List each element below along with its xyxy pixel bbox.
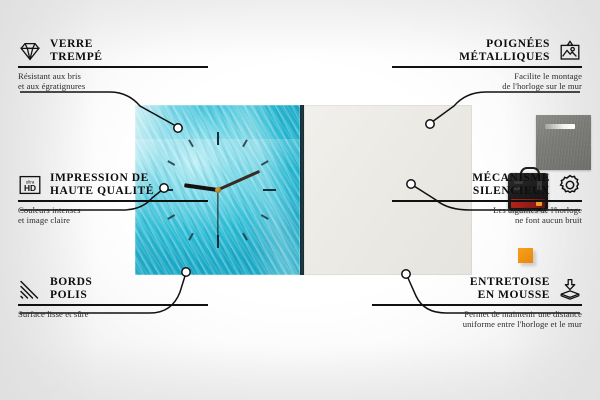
callout-header: MÉCANISME SILENCIEUX — [392, 172, 582, 197]
callout-description: Surface lisse et sûre — [18, 309, 208, 320]
clock-second-hand — [217, 190, 218, 240]
polished-edges-icon — [18, 277, 42, 301]
callout-title: ENTRETOISE EN MOUSSE — [470, 276, 550, 301]
callout-header: VERRE TREMPÉ — [18, 38, 208, 63]
callout-description: Couleurs intenses et image claire — [18, 205, 208, 226]
callout-bords-polis[interactable]: BORDS POLIS Surface lisse et sûre — [18, 276, 208, 319]
ultra-hd-icon: ultra HD — [18, 173, 42, 197]
hanger-slot — [545, 124, 575, 129]
infographic-canvas: VERRE TREMPÉ Résistant aux bris et aux é… — [0, 0, 600, 400]
clock-tick — [217, 132, 219, 190]
callout-rule — [392, 200, 582, 201]
callout-mecanisme-silencieux[interactable]: MÉCANISME SILENCIEUX Les aiguilles de l'… — [392, 172, 582, 226]
metal-hanger-plate — [536, 115, 591, 170]
callout-rule — [18, 200, 208, 201]
callout-rule — [372, 304, 582, 305]
foam-spacer — [518, 248, 533, 263]
callout-header: ENTRETOISE EN MOUSSE — [372, 276, 582, 301]
callout-title: VERRE TREMPÉ — [50, 38, 103, 63]
callout-verre-trempe[interactable]: VERRE TREMPÉ Résistant aux bris et aux é… — [18, 38, 208, 92]
clock-tick — [218, 189, 276, 191]
gear-icon — [558, 173, 582, 197]
callout-title: POIGNÉES MÉTALLIQUES — [459, 38, 550, 63]
svg-text:HD: HD — [24, 183, 36, 193]
callout-title: IMPRESSION DE HAUTE QUALITÉ — [50, 172, 154, 197]
callout-title: BORDS POLIS — [50, 276, 92, 301]
callout-rule — [18, 66, 208, 67]
clock-center-hub — [215, 187, 221, 193]
callout-header: ultra HD IMPRESSION DE HAUTE QUALITÉ — [18, 172, 208, 197]
callout-rule — [18, 304, 208, 305]
callout-poignees-metalliques[interactable]: POIGNÉES MÉTALLIQUES Facilite le montage… — [392, 38, 582, 92]
callout-impression-haute-qualite[interactable]: ultra HD IMPRESSION DE HAUTE QUALITÉ Cou… — [18, 172, 208, 226]
callout-rule — [392, 66, 582, 67]
callout-description: Les aiguilles de l'horloge ne font aucun… — [392, 205, 582, 226]
callout-entretoise-en-mousse[interactable]: ENTRETOISE EN MOUSSE Permet de maintenir… — [372, 276, 582, 330]
callout-header: BORDS POLIS — [18, 276, 208, 301]
wall-mount-frame-icon — [558, 39, 582, 63]
callout-description: Facilite le montage de l'horloge sur le … — [392, 71, 582, 92]
callout-title: MÉCANISME SILENCIEUX — [472, 172, 550, 197]
callout-description: Résistant aux bris et aux égratignures — [18, 71, 208, 92]
callout-description: Permet de maintenir une distance uniform… — [372, 309, 582, 330]
callout-header: POIGNÉES MÉTALLIQUES — [392, 38, 582, 63]
diamond-icon — [18, 39, 42, 63]
foam-spacer-arrow-icon — [558, 277, 582, 301]
